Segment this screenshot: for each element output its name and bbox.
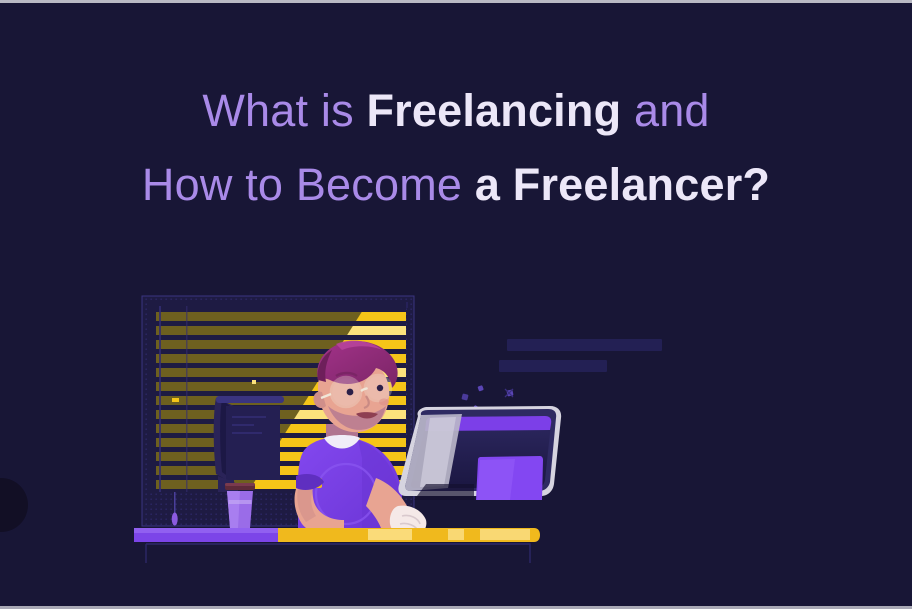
desk [134,528,540,563]
slide-top-border [0,0,912,3]
left-edge-orb-decoration [0,478,28,532]
computer-monitor [214,396,284,492]
page-title: What is Freelancing and How to Become a … [0,88,912,207]
freelancer-at-desk-illustration [130,288,630,563]
slide-canvas: What is Freelancing and How to Become a … [0,0,912,609]
title-segment-what-is: What is [202,85,366,136]
title-segment-and: and [621,85,709,136]
title-segment-freelancing: Freelancing [366,85,621,136]
laptop [398,406,561,500]
title-line-1: What is Freelancing and [0,88,912,133]
title-line-2: How to Become a Freelancer? [0,162,912,207]
title-segment-a-freelancer: a Freelancer? [475,159,770,210]
title-segment-how-to-become: How to Become [142,159,475,210]
coffee-cup [225,483,255,528]
